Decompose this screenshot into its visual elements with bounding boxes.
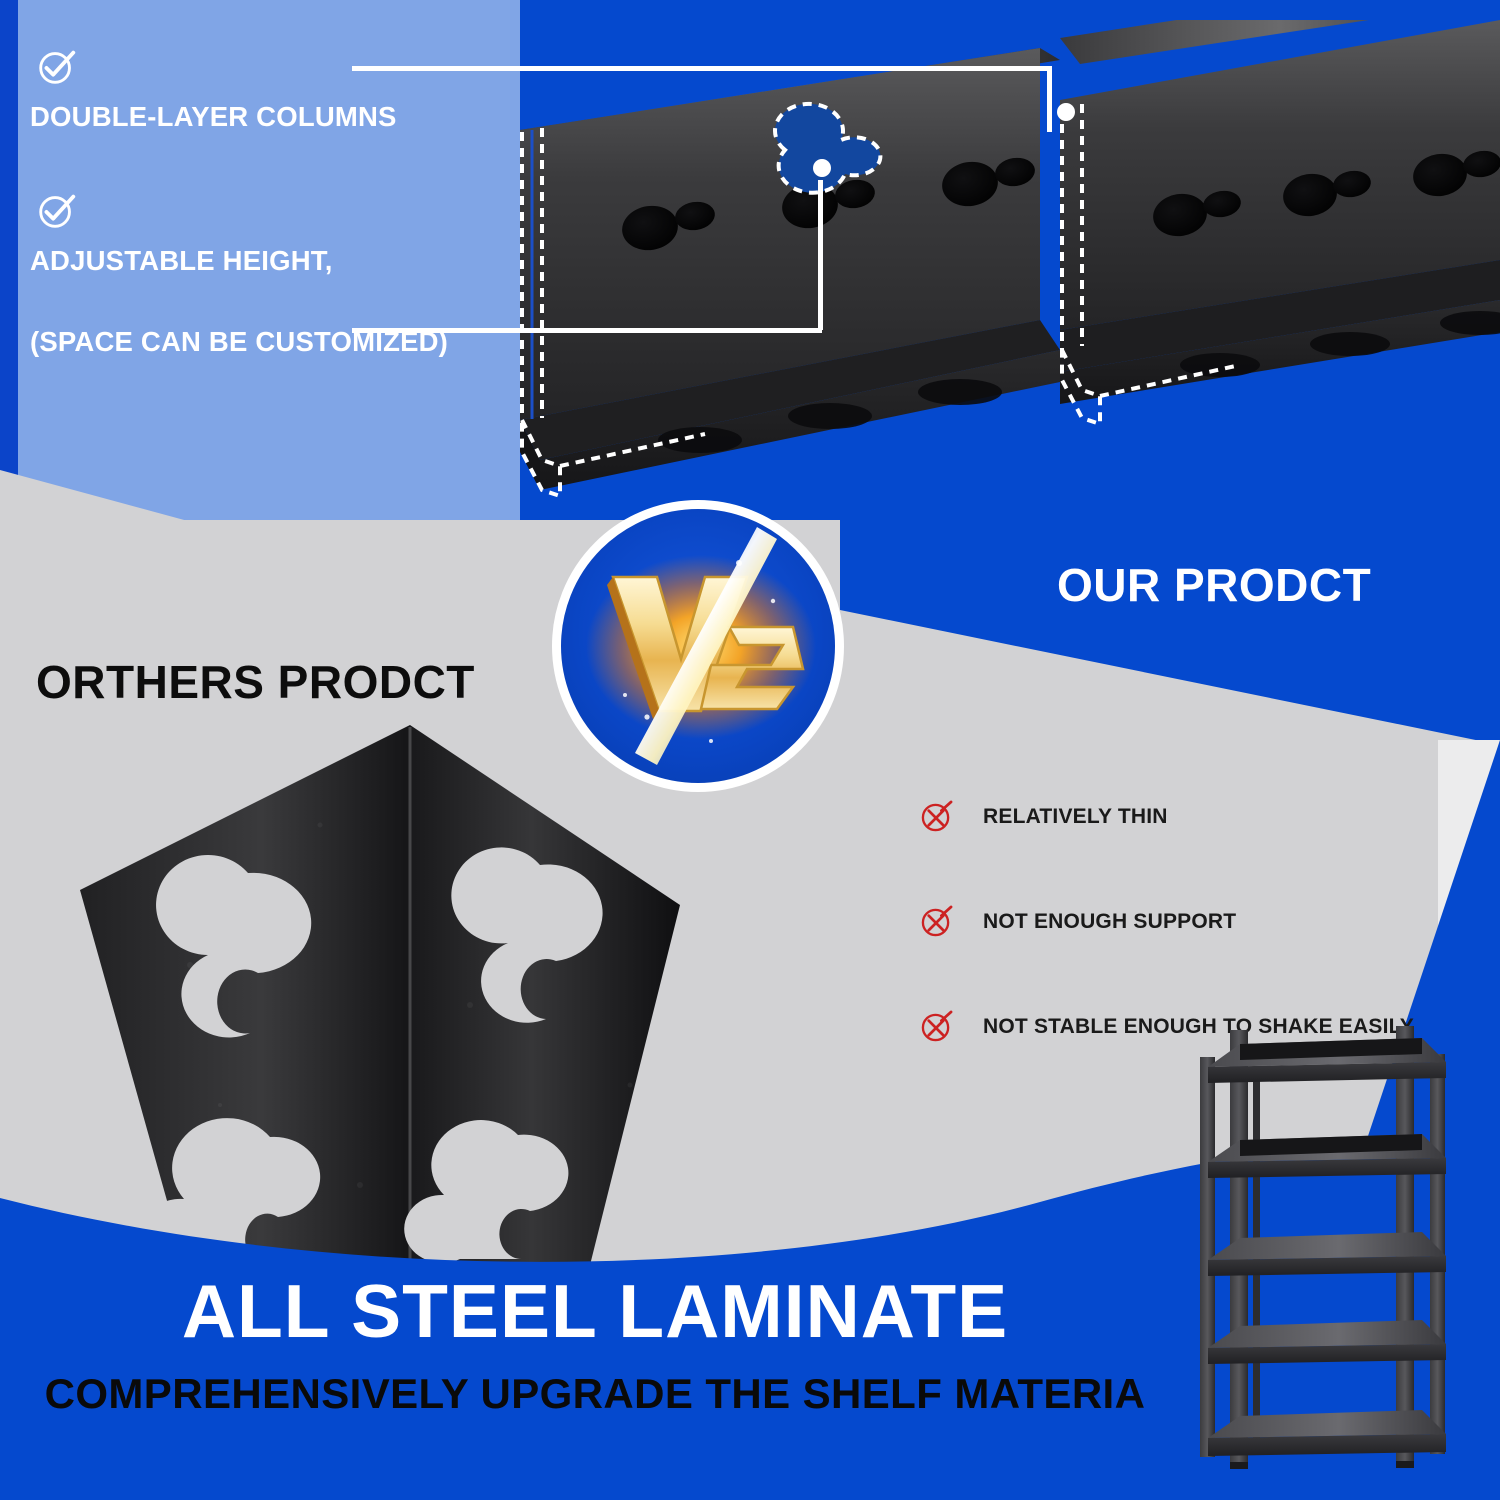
check-circle-icon xyxy=(34,188,80,234)
left-accent-strip xyxy=(0,0,18,520)
leader-line-top-vertical xyxy=(1047,66,1052,132)
feature-item-0: DOUBLE-LAYER COLUMNS xyxy=(28,44,508,132)
banner-title: ALL STEEL LAMINATE xyxy=(0,1268,1190,1354)
steel-beam-closeup-photo xyxy=(500,20,1500,520)
con-label-0: RELATIVELY THIN xyxy=(983,805,1168,829)
banner-subtitle: COMPREHENSIVELY UPGRADE THE SHELF MATERI… xyxy=(0,1370,1190,1418)
check-circle-icon xyxy=(34,44,80,90)
feature-label-1: ADJUSTABLE HEIGHT, xyxy=(30,246,508,276)
feature-list: DOUBLE-LAYER COLUMNS ADJUSTABLE HEIGHT, … xyxy=(28,44,508,367)
our-product-heading: OUR PRODCT xyxy=(1057,558,1371,612)
feature-label-0: DOUBLE-LAYER COLUMNS xyxy=(30,102,508,132)
con-row-1: NOT ENOUGH SUPPORT xyxy=(920,905,1460,938)
x-circle-icon xyxy=(920,800,953,833)
others-product-heading: ORTHERS PRODCT xyxy=(36,655,475,709)
con-row-0: RELATIVELY THIN xyxy=(920,800,1460,833)
vs-badge xyxy=(552,500,844,792)
product-infographic: DOUBLE-LAYER COLUMNS ADJUSTABLE HEIGHT, … xyxy=(0,0,1500,1500)
con-label-1: NOT ENOUGH SUPPORT xyxy=(983,910,1236,934)
x-circle-icon xyxy=(920,1010,953,1043)
x-circle-icon xyxy=(920,905,953,938)
leader-line-bottom xyxy=(352,328,822,333)
shelving-unit-photo xyxy=(1178,1012,1478,1482)
corner-bracket-photo xyxy=(70,705,690,1270)
leader-line-top xyxy=(352,66,1052,71)
leader-line-bottom-vertical xyxy=(818,180,823,330)
feature-item-1: ADJUSTABLE HEIGHT, xyxy=(28,188,508,276)
